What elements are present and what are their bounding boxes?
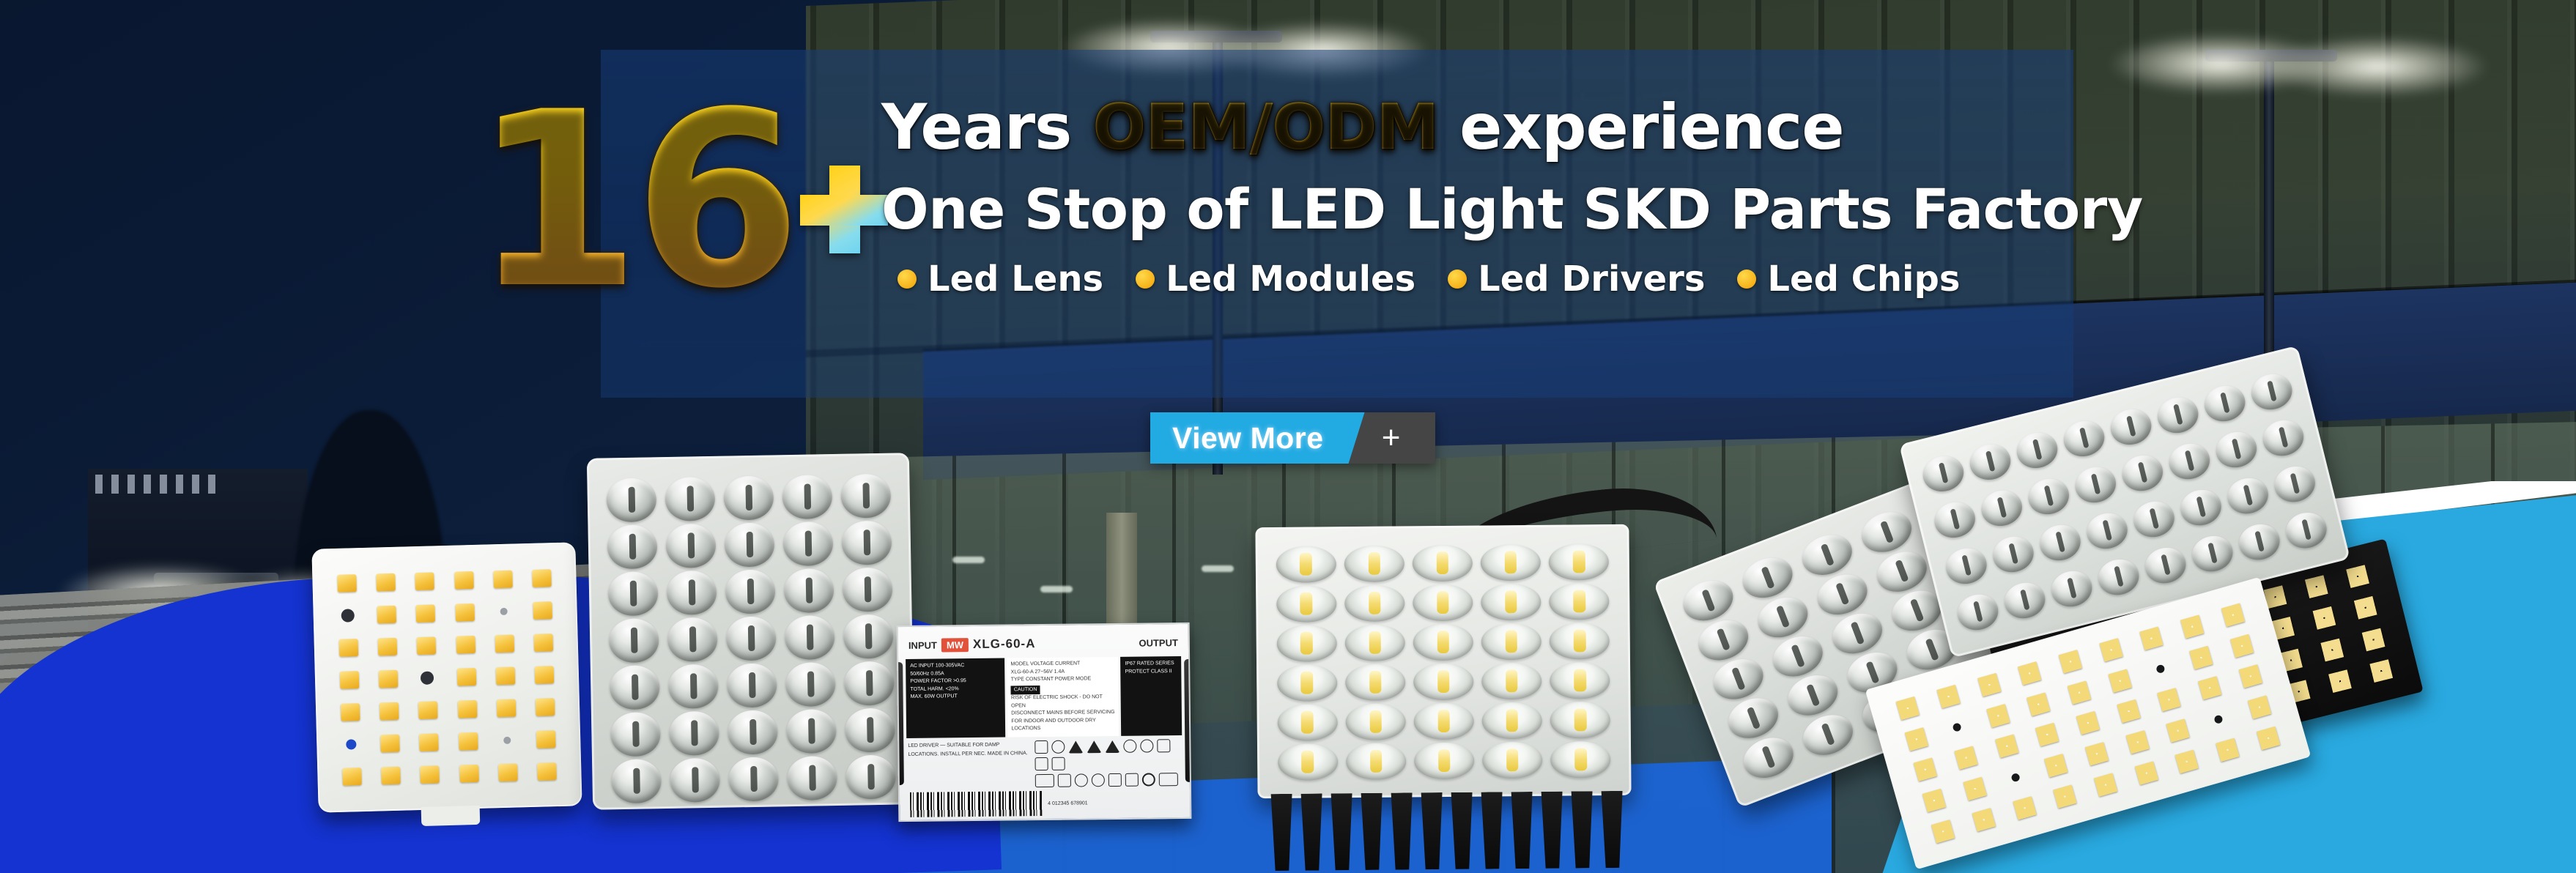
driver-brand-logo: MW (941, 638, 969, 652)
bullet-dot-icon (1136, 270, 1155, 289)
years-number: 16 (473, 86, 794, 316)
driver-input-label: INPUT (908, 639, 937, 650)
headline-line1-post: experience (1438, 91, 1843, 164)
plus-symbol-icon (800, 166, 888, 253)
led-products-promo-banner: 16 Years OEM/ODM experience One Stop of … (0, 0, 2576, 873)
bullet-label: Led Modules (1166, 259, 1415, 300)
led-lens-array-upright (587, 453, 915, 810)
bullet-label: Led Chips (1767, 259, 1960, 300)
driver-output-label: OUTPUT (1139, 637, 1178, 649)
driver-output-specs: IP67 RATED SERIES PROTECT CLASS II (1120, 656, 1182, 736)
view-more-button[interactable]: View More + (1150, 412, 1435, 464)
driver-model-number: XLG-60-A (973, 636, 1036, 652)
headline-oem-odm: OEM/ODM (1092, 91, 1438, 164)
headline-line-1: Years OEM/ODM experience (881, 94, 2068, 162)
assembled-led-module (1255, 524, 1631, 798)
list-item[interactable]: Led Drivers (1448, 259, 1705, 300)
led-driver-unit: INPUT MW XLG-60-A OUTPUT AC INPUT 100-30… (897, 623, 1192, 822)
driver-input-specs: AC INPUT 100-305VAC 50/60Hz 0.85A POWER … (906, 658, 1005, 738)
driver-barcode-number: 4 012345 678901 (1048, 800, 1088, 806)
driver-barcode (910, 791, 1042, 817)
module-heatsink-fins (1271, 791, 1624, 871)
lamp-glow (2268, 37, 2487, 97)
bullet-label: Led Drivers (1478, 259, 1705, 300)
years-logo: 16 (473, 86, 888, 316)
headline-copy: Years OEM/ODM experience One Stop of LED… (881, 94, 2068, 300)
driver-spec-table: MODEL VOLTAGE CURRENT XLG-60-A 27~56V 1.… (1007, 657, 1119, 738)
white-led-pcb-module (311, 542, 582, 812)
headline-line-2: One Stop of LED Light SKD Parts Factory (881, 179, 2068, 239)
bullet-dot-icon (897, 270, 917, 289)
list-item[interactable]: Led Lens (897, 259, 1103, 300)
bullet-dot-icon (1737, 270, 1756, 289)
bullet-label: Led Lens (928, 259, 1103, 300)
driver-footer-note: LED DRIVER — SUITABLE FOR DAMP LOCATIONS… (908, 740, 1031, 789)
certification-marks (1035, 739, 1181, 770)
list-item[interactable]: Led Chips (1737, 259, 1960, 300)
bullet-dot-icon (1448, 270, 1467, 289)
product-category-list: Led Lens Led Modules Led Drivers Led Chi… (897, 259, 2068, 300)
headline-line1-pre: Years (881, 91, 1092, 164)
view-more-label[interactable]: View More (1150, 412, 1365, 464)
list-item[interactable]: Led Modules (1136, 259, 1415, 300)
